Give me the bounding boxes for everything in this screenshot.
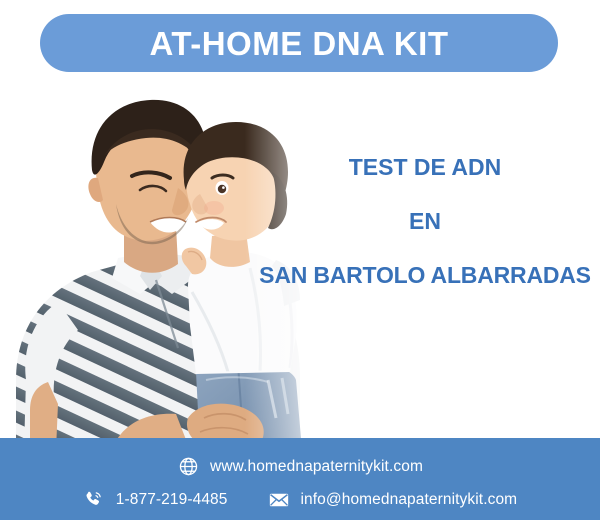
headline-line-en: EN xyxy=(250,209,600,233)
contact-phone[interactable]: 1-877-219-4485 xyxy=(83,489,228,511)
website-text: www.homednapaternitykit.com xyxy=(210,458,423,476)
footer-phone-email-row: 1-877-219-4485 info@homednapaternitykit.… xyxy=(0,483,600,516)
dna-test-promo-poster: AT-HOME DNA KIT xyxy=(0,0,600,520)
headline-block: TEST DE ADN EN SAN BARTOLO ALBARRADAS xyxy=(250,155,600,287)
phone-text: 1-877-219-4485 xyxy=(116,491,228,509)
globe-icon xyxy=(177,456,199,478)
contact-email[interactable]: info@homednapaternitykit.com xyxy=(268,489,518,511)
phone-icon xyxy=(83,489,105,511)
header-banner-title: AT-HOME DNA KIT xyxy=(150,27,449,60)
email-text: info@homednapaternitykit.com xyxy=(301,491,518,509)
header-banner: AT-HOME DNA KIT xyxy=(40,14,558,72)
contact-website[interactable]: www.homednapaternitykit.com xyxy=(177,456,423,478)
footer-contact-band: www.homednapaternitykit.com 1-877-219-44… xyxy=(0,438,600,520)
headline-line-location: SAN BARTOLO ALBARRADAS xyxy=(250,263,600,287)
headline-line-test-de-adn: TEST DE ADN xyxy=(250,155,600,179)
envelope-icon xyxy=(268,489,290,511)
footer-website-row: www.homednapaternitykit.com xyxy=(0,450,600,483)
